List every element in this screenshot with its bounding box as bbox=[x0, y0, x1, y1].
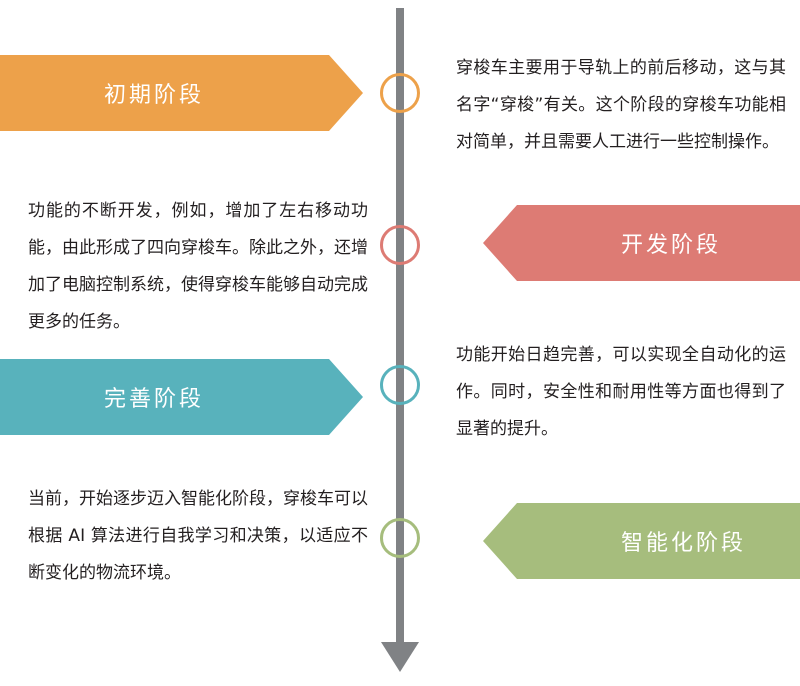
stage-description-1: 穿梭车主要用于导轨上的前后移动，这与其名字“穿梭”有关。这个阶段的穿梭车功能相对… bbox=[456, 50, 786, 161]
down-arrow-icon bbox=[381, 642, 419, 672]
timeline-circle-icon-4[interactable] bbox=[380, 518, 420, 558]
timeline-circle-icon-3[interactable] bbox=[380, 365, 420, 405]
timeline-circle-icon-2[interactable] bbox=[380, 225, 420, 265]
timeline-circle-icon-1[interactable] bbox=[380, 73, 420, 113]
stage-label-4: 智能化阶段 bbox=[621, 525, 746, 557]
stage-label-2: 开发阶段 bbox=[621, 227, 721, 259]
stage-band-3[interactable]: 完善阶段 bbox=[0, 359, 363, 435]
stage-label-1: 初期阶段 bbox=[104, 77, 204, 109]
stage-description-2: 功能的不断开发，例如，增加了左右移动功能，由此形成了四向穿梭车。除此之外，还增加… bbox=[28, 193, 368, 341]
stage-band-1[interactable]: 初期阶段 bbox=[0, 55, 363, 131]
stage-description-4: 当前，开始逐步迈入智能化阶段，穿梭车可以根据 AI 算法进行自我学习和决策，以适… bbox=[28, 481, 368, 592]
stage-label-3: 完善阶段 bbox=[104, 381, 204, 413]
timeline-diagram: 初期阶段 穿梭车主要用于导轨上的前后移动，这与其名字“穿梭”有关。这个阶段的穿梭… bbox=[0, 0, 800, 686]
stage-band-2[interactable]: 开发阶段 bbox=[483, 205, 800, 281]
stage-band-4[interactable]: 智能化阶段 bbox=[483, 503, 800, 579]
stage-description-3: 功能开始日趋完善，可以实现全自动化的运作。同时，安全性和耐用性等方面也得到了显著… bbox=[456, 337, 786, 448]
